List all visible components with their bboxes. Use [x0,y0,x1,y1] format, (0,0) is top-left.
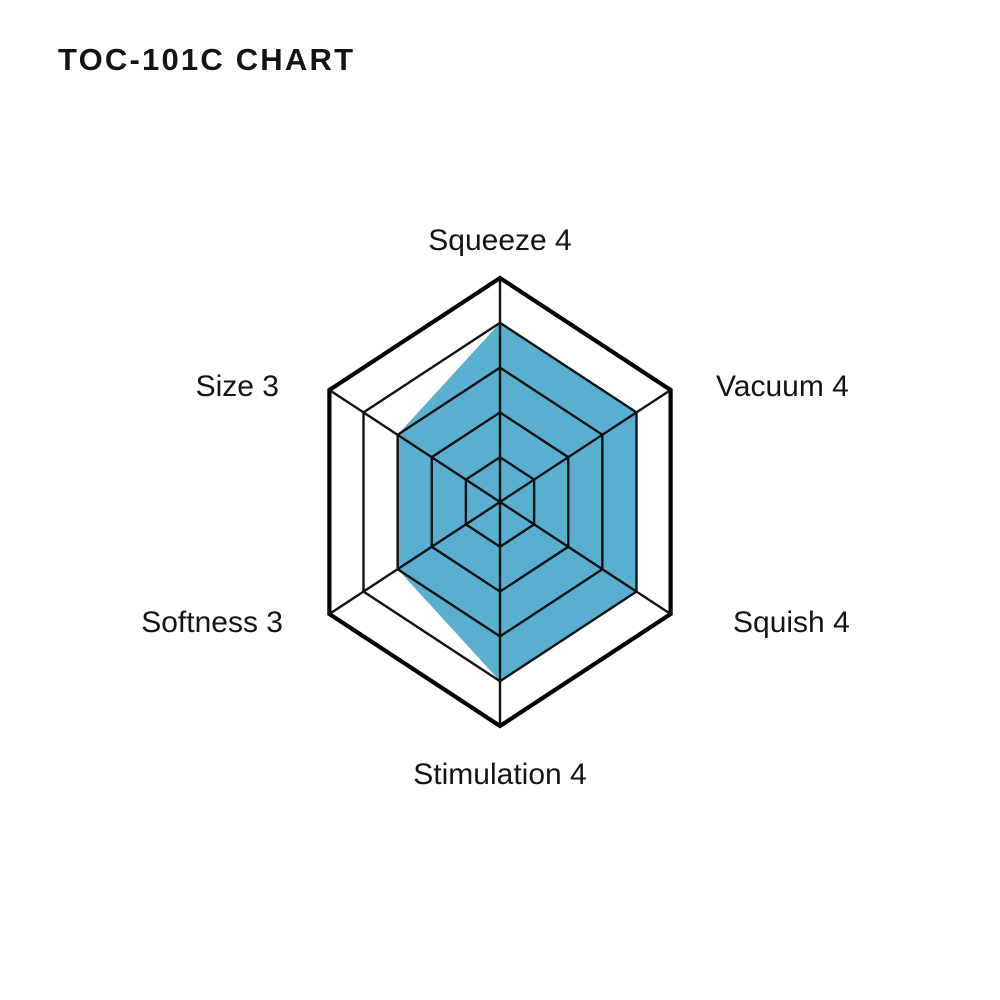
axis-label-size: Size 3 [196,370,279,403]
axis-label-stimulation: Stimulation 4 [413,758,586,791]
axis-label-squish: Squish 4 [733,606,850,639]
radar-chart-plot: Squeeze 4Vacuum 4Squish 4Stimulation 4So… [0,0,1000,1000]
axis-label-vacuum: Vacuum 4 [716,370,849,403]
series-area-group [398,323,637,681]
series-area-toc-101c [398,323,637,681]
axis-label-softness: Softness 3 [141,606,283,639]
axis-label-squeeze: Squeeze 4 [428,224,571,257]
radar-chart-card: TOC-101C CHART Squeeze 4Vacuum 4Squish 4… [0,0,1000,1000]
